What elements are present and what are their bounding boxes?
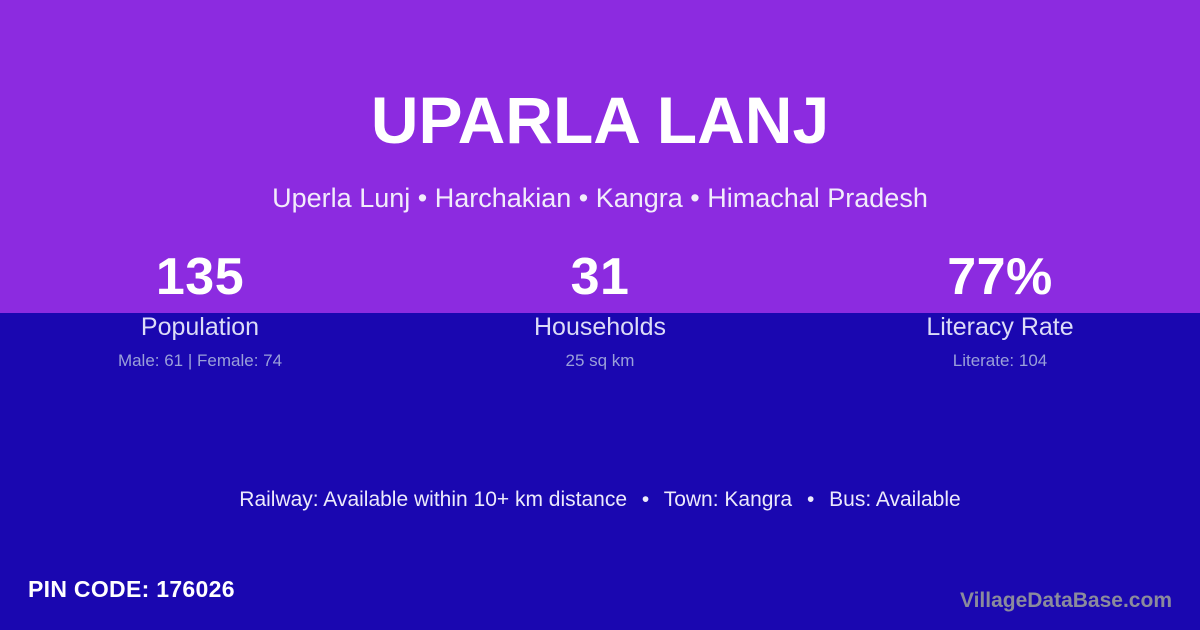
- stat-sublabel: Male: 61 | Female: 74: [118, 351, 282, 371]
- breadcrumb: Uperla Lunj • Harchakian • Kangra • Hima…: [0, 182, 1200, 214]
- stat-value: 31: [571, 246, 630, 308]
- village-info-card: UPARLA LANJ Uperla Lunj • Harchakian • K…: [0, 0, 1200, 630]
- amenity-railway: Railway: Available within 10+ km distanc…: [239, 488, 627, 511]
- bullet-separator-icon: •: [798, 488, 823, 511]
- pin-code: PIN CODE: 176026: [28, 575, 235, 603]
- stat-value: 77%: [947, 246, 1053, 308]
- stat-label: Households: [534, 313, 666, 342]
- stat-sublabel: 25 sq km: [566, 351, 635, 371]
- stat-population: 135 Population Male: 61 | Female: 74: [0, 246, 400, 371]
- stat-label: Literacy Rate: [926, 313, 1073, 342]
- stat-literacy-rate: 77% Literacy Rate Literate: 104: [800, 246, 1200, 371]
- stat-value: 135: [156, 246, 244, 308]
- page-title: UPARLA LANJ: [0, 86, 1200, 155]
- stat-households: 31 Households 25 sq km: [400, 246, 800, 371]
- stat-sublabel: Literate: 104: [953, 351, 1048, 371]
- stat-label: Population: [141, 313, 259, 342]
- amenities-line: Railway: Available within 10+ km distanc…: [0, 487, 1200, 513]
- amenity-bus: Bus: Available: [829, 488, 961, 511]
- stats-row: 135 Population Male: 61 | Female: 74 31 …: [0, 246, 1200, 371]
- site-watermark: VillageDataBase.com: [960, 588, 1172, 613]
- amenity-town: Town: Kangra: [664, 488, 792, 511]
- bullet-separator-icon: •: [633, 488, 658, 511]
